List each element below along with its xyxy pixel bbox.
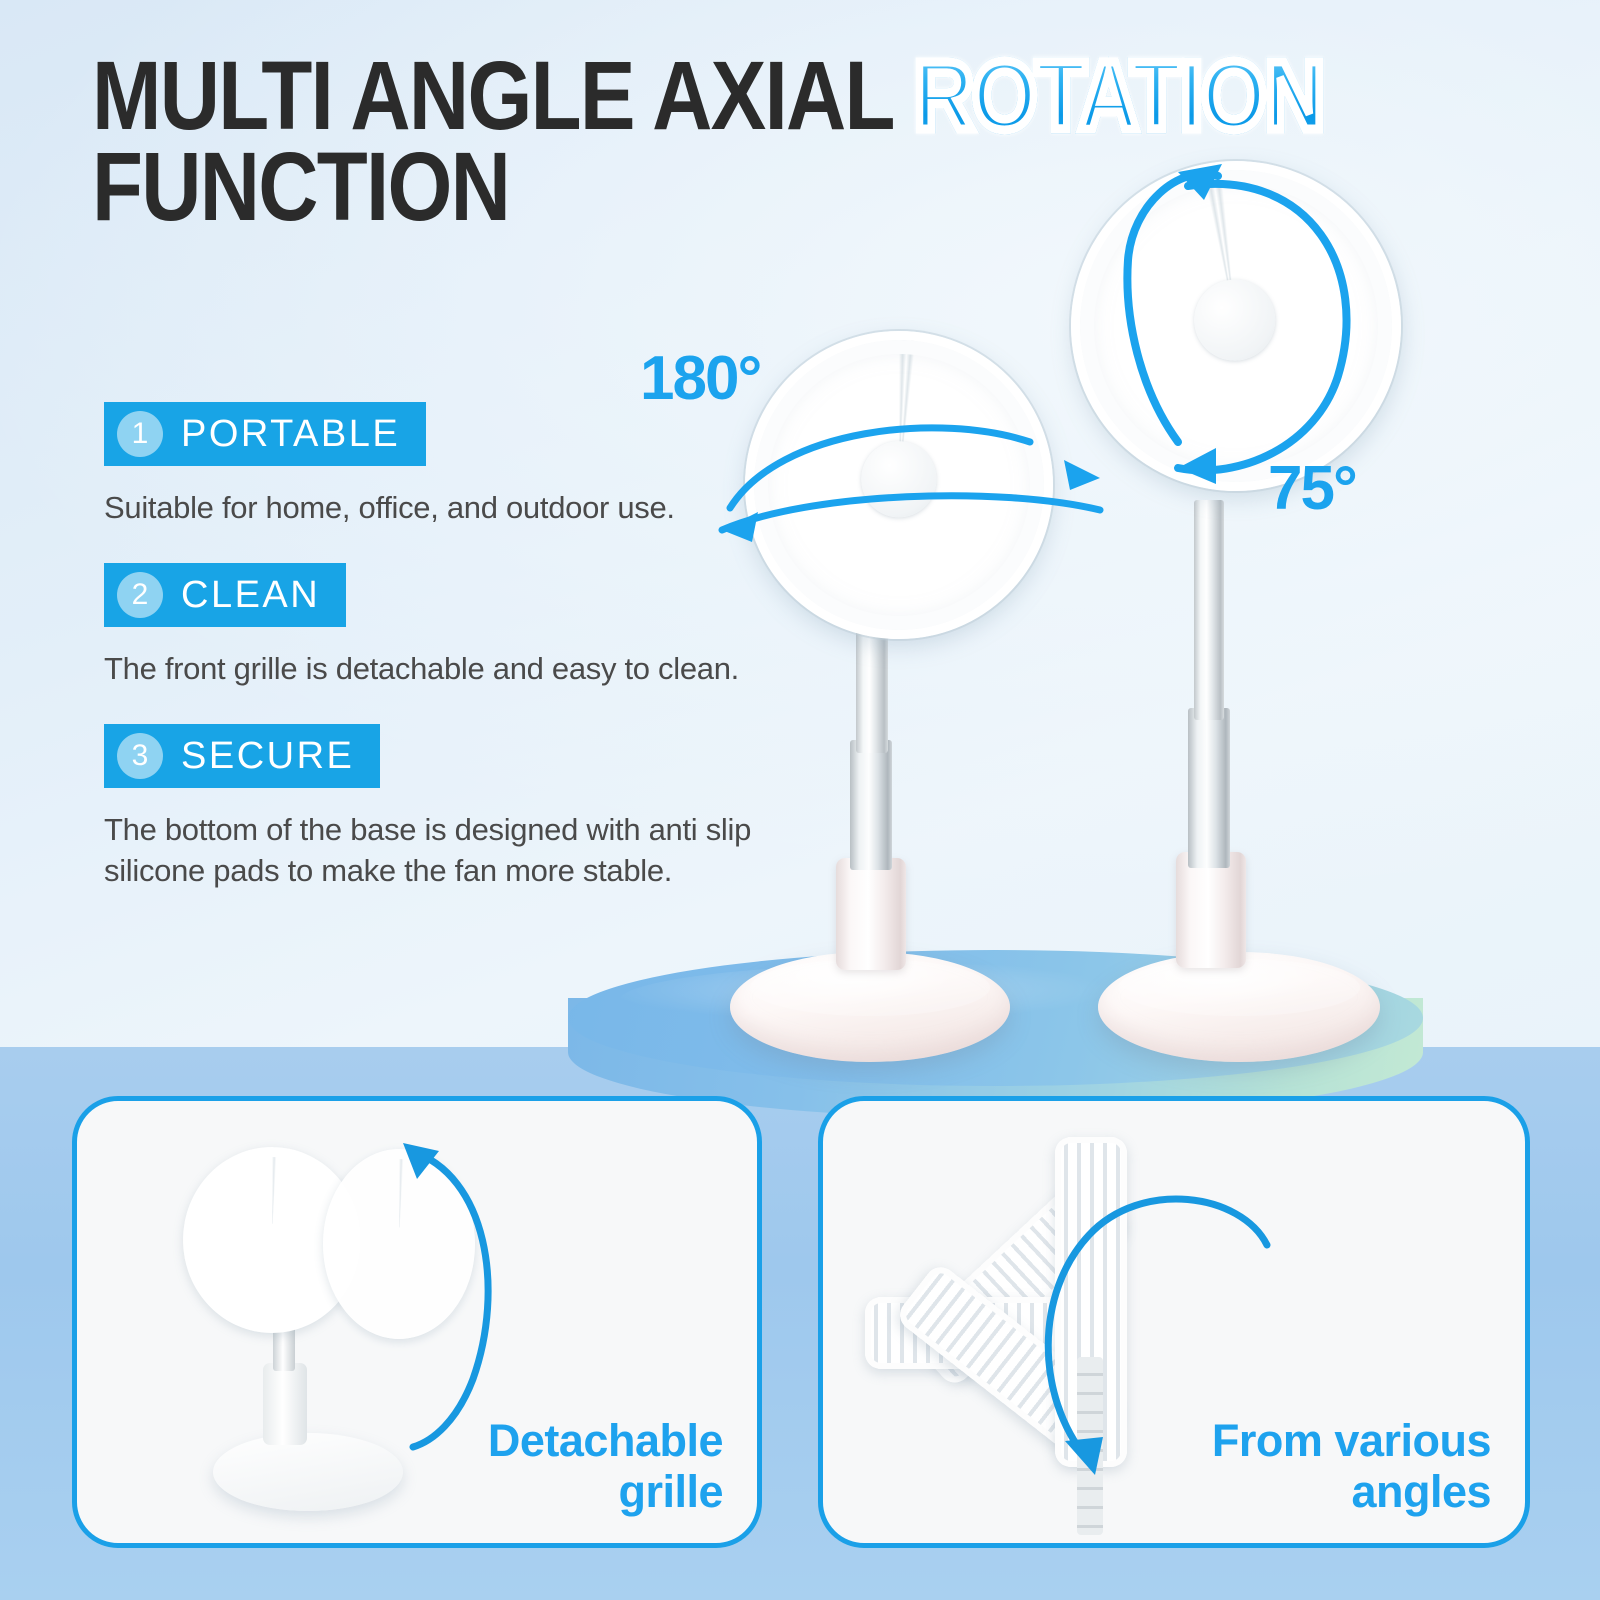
mini-fan-collar: [263, 1363, 307, 1445]
fan-pole-upper: [1194, 500, 1224, 720]
card-caption-line1: From various: [1212, 1416, 1491, 1466]
feature-card-detachable-grille[interactable]: Detachable grille: [72, 1096, 762, 1548]
detach-rotation-arrow: [377, 1129, 517, 1459]
feature-description: The front grille is detachable and easy …: [104, 649, 764, 690]
feature-list: 1 PORTABLE Suitable for home, office, an…: [104, 402, 784, 926]
fan-base-collar: [1176, 852, 1246, 968]
card-caption-line2: angles: [1212, 1467, 1491, 1517]
feature-description: The bottom of the base is designed with …: [104, 810, 764, 892]
feature-title: PORTABLE: [181, 415, 400, 453]
angle-label-horizontal: 180°: [640, 348, 760, 410]
card-caption-line1: Detachable: [488, 1416, 723, 1466]
feature-number-badge: 1: [117, 411, 163, 457]
card-caption: From various angles: [1212, 1416, 1491, 1517]
fan-pole-lower: [1188, 708, 1230, 868]
page-title-line1-highlight: ROTATION: [914, 41, 1323, 150]
fan-base: [1098, 952, 1380, 1062]
angle-label-vertical: 75°: [1268, 458, 1356, 520]
fan-base-collar: [836, 858, 906, 970]
page-title-line2: FUNCTION: [92, 132, 509, 241]
feature-banner: 3 SECURE: [104, 724, 380, 788]
feature-item: 2 CLEAN The front grille is detachable a…: [104, 563, 784, 690]
feature-banner: 2 CLEAN: [104, 563, 346, 627]
feature-description: Suitable for home, office, and outdoor u…: [104, 488, 764, 529]
feature-number-badge: 3: [117, 733, 163, 779]
fan-pole-upper: [856, 628, 888, 753]
feature-number-badge: 2: [117, 572, 163, 618]
feature-title: CLEAN: [181, 576, 320, 614]
feature-banner: 1 PORTABLE: [104, 402, 426, 466]
feature-card-various-angles[interactable]: From various angles: [818, 1096, 1530, 1548]
mini-fan-base: [213, 1433, 403, 1511]
fan-pole-lower: [850, 740, 892, 870]
card-caption-line2: grille: [488, 1467, 723, 1517]
card-caption: Detachable grille: [488, 1416, 723, 1517]
feature-item: 1 PORTABLE Suitable for home, office, an…: [104, 402, 784, 529]
feature-item: 3 SECURE The bottom of the base is desig…: [104, 724, 784, 892]
feature-title: SECURE: [181, 737, 354, 775]
